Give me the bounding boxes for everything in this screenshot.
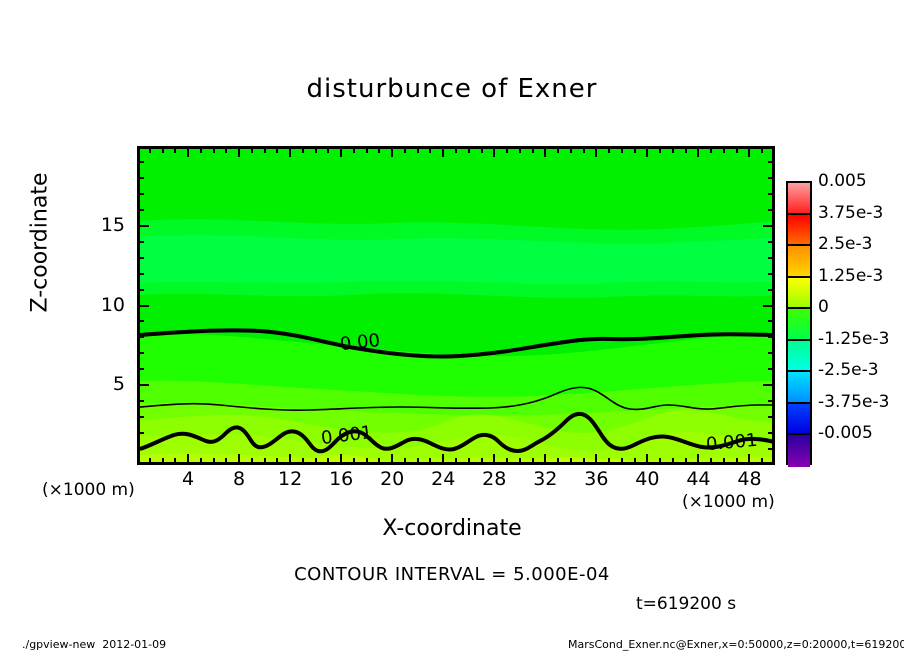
y-tick [137,241,144,243]
x-tick-top [595,146,597,157]
x-axis-title: X-coordinate [0,516,904,541]
x-tick [570,458,572,465]
x-tick-top [276,146,278,153]
x-tick [404,458,406,465]
contour-line-svg [140,149,775,465]
colorbar-tick-label: 2.5e-3 [818,234,872,254]
x-tick [391,454,393,465]
x-tick-top [761,146,763,153]
y-tick-right [763,305,775,307]
x-tick [327,458,329,465]
contour-interval-note: CONTOUR INTERVAL = 5.000E-04 [0,564,904,585]
x-tick [251,458,253,465]
y-tick-right [768,241,775,243]
x-tick [710,458,712,465]
x-tick-top [557,146,559,153]
y-tick-right [768,193,775,195]
x-tick-top [251,146,253,153]
y-tick-right [768,289,775,291]
contour-label-0001-right: 0.001 [705,430,758,455]
y-tick [137,336,144,338]
x-tick [519,458,521,465]
y-tick [137,416,144,418]
x-tick [289,454,291,465]
colorbar-tick-label: -1.25e-3 [818,329,889,349]
x-tick-top [710,146,712,153]
x-tick [736,458,738,465]
y-tick [137,368,144,370]
x-tick-top [289,146,291,157]
x-tick-top [672,146,674,153]
colorbar-segment [788,215,810,247]
y-tick [137,193,144,195]
colorbar-segment [788,372,810,404]
y-tick-right [763,384,775,386]
x-tick-top [493,146,495,157]
y-tick-right [768,161,775,163]
x-tick [621,458,623,465]
colorbar-segment [788,246,810,278]
x-tick-top [162,146,164,153]
x-tick [187,454,189,465]
y-tick-label: 10 [79,294,125,316]
colorbar-segment [788,404,810,436]
x-tick-top [544,146,546,157]
x-tick-top [570,146,572,153]
y-tick [137,305,149,307]
y-tick-right [768,432,775,434]
colorbar-tick-label: -0.005 [818,423,873,443]
contour-lines [140,149,772,462]
x-tick [532,458,534,465]
x-tick [468,458,470,465]
y-tick [137,384,149,386]
x-tick-top [634,146,636,153]
x-tick [429,458,431,465]
time-stamp: t=619200 s [636,594,736,614]
x-tick [378,458,380,465]
x-tick-top [468,146,470,153]
contour-zero [140,330,775,356]
x-tick-top [264,146,266,153]
x-tick [149,458,151,465]
x-tick-top [378,146,380,153]
x-tick [417,458,419,465]
x-units-left: (×1000 m) [42,480,135,500]
x-tick-top [238,146,240,157]
x-tick-top [659,146,661,153]
x-tick [544,454,546,465]
y-tick [137,161,144,163]
x-tick [455,458,457,465]
x-tick [608,458,610,465]
x-tick-top [429,146,431,153]
y-tick [137,257,144,259]
colorbar-tick-label: 0 [818,297,829,317]
x-tick [493,454,495,465]
y-tick-right [768,336,775,338]
x-tick-top [225,146,227,153]
x-tick-top [340,146,342,157]
x-units-right: (×1000 m) [682,492,775,512]
x-tick [506,458,508,465]
y-tick [137,177,144,179]
colorbar-tick-label: 0.005 [818,171,867,191]
y-tick [137,448,144,450]
colorbar-segment [788,278,810,310]
plot-area: 0.00 0.001 0.001 [137,146,775,465]
x-tick [162,458,164,465]
y-tick [137,400,144,402]
x-tick-top [455,146,457,153]
x-tick-top [213,146,215,153]
x-tick-top [532,146,534,153]
y-tick-label: 5 [79,373,125,395]
y-tick [137,352,144,354]
colorbar-segment [788,435,810,467]
x-tick-top [315,146,317,153]
x-tick [174,458,176,465]
x-tick-top [149,146,151,153]
x-tick-top [697,146,699,157]
x-tick [595,454,597,465]
figure-canvas: disturbunce of Exner [0,0,904,654]
y-tick-label: 15 [79,214,125,236]
page-title: disturbunce of Exner [0,74,904,104]
y-tick-right [768,273,775,275]
x-tick-top [481,146,483,153]
x-tick-top [302,146,304,153]
y-tick-right [768,177,775,179]
y-tick [137,320,144,322]
x-tick [685,458,687,465]
x-tick-top [353,146,355,153]
x-tick-top [519,146,521,153]
x-tick [442,454,444,465]
x-tick [761,458,763,465]
x-tick [264,458,266,465]
y-tick-right [768,257,775,259]
x-tick [748,454,750,465]
x-tick [353,458,355,465]
x-tick [213,458,215,465]
footer-right: MarsCond_Exner.nc@Exner,x=0:50000,z=0:20… [568,638,904,651]
colorbar-segment [788,183,810,215]
y-tick-right [768,368,775,370]
y-tick-right [768,320,775,322]
y-tick-right [768,400,775,402]
x-tick-top [685,146,687,153]
x-tick [366,458,368,465]
x-tick-top [391,146,393,157]
x-tick-label: 48 [719,468,779,490]
y-tick-right [763,225,775,227]
x-tick [276,458,278,465]
colorbar[interactable] [786,181,812,465]
y-axis-title: Z-coordinate [28,143,53,343]
x-tick [697,454,699,465]
y-tick-right [768,416,775,418]
x-tick-top [200,146,202,153]
contour-0005 [140,387,775,410]
x-tick [557,458,559,465]
footer-left: ./gpview-new 2012-01-09 [22,638,166,651]
x-tick [481,458,483,465]
x-tick-top [723,146,725,153]
x-tick [634,458,636,465]
x-tick-top [583,146,585,153]
x-tick-top [736,146,738,153]
y-tick [137,209,144,211]
y-tick [137,432,144,434]
x-tick-top [442,146,444,157]
colorbar-segment [788,341,810,373]
x-tick-top [646,146,648,157]
y-tick [137,225,149,227]
contour-label-zero: 0.00 [339,330,381,355]
colorbar-tick-label: 1.25e-3 [818,266,883,286]
x-tick [225,458,227,465]
x-tick-top [621,146,623,153]
x-tick [302,458,304,465]
x-tick-top [608,146,610,153]
x-tick-top [404,146,406,153]
y-tick [137,273,144,275]
x-tick-top [187,146,189,157]
x-tick [723,458,725,465]
x-tick [315,458,317,465]
x-tick [659,458,661,465]
y-tick-right [768,209,775,211]
y-tick [137,289,144,291]
x-tick [672,458,674,465]
y-tick-right [768,448,775,450]
x-tick-top [327,146,329,153]
x-tick [583,458,585,465]
colorbar-segment [788,309,810,341]
colorbar-tick-label: -2.5e-3 [818,360,879,380]
x-tick [238,454,240,465]
x-tick-top [174,146,176,153]
contour-001 [140,414,775,451]
x-tick [340,454,342,465]
y-tick-right [768,352,775,354]
x-tick [200,458,202,465]
x-tick-top [506,146,508,153]
colorbar-tick-label: 3.75e-3 [818,203,883,223]
x-tick [646,454,648,465]
x-tick-top [748,146,750,157]
colorbar-tick-label: -3.75e-3 [818,392,889,412]
x-tick-top [366,146,368,153]
x-tick-top [417,146,419,153]
